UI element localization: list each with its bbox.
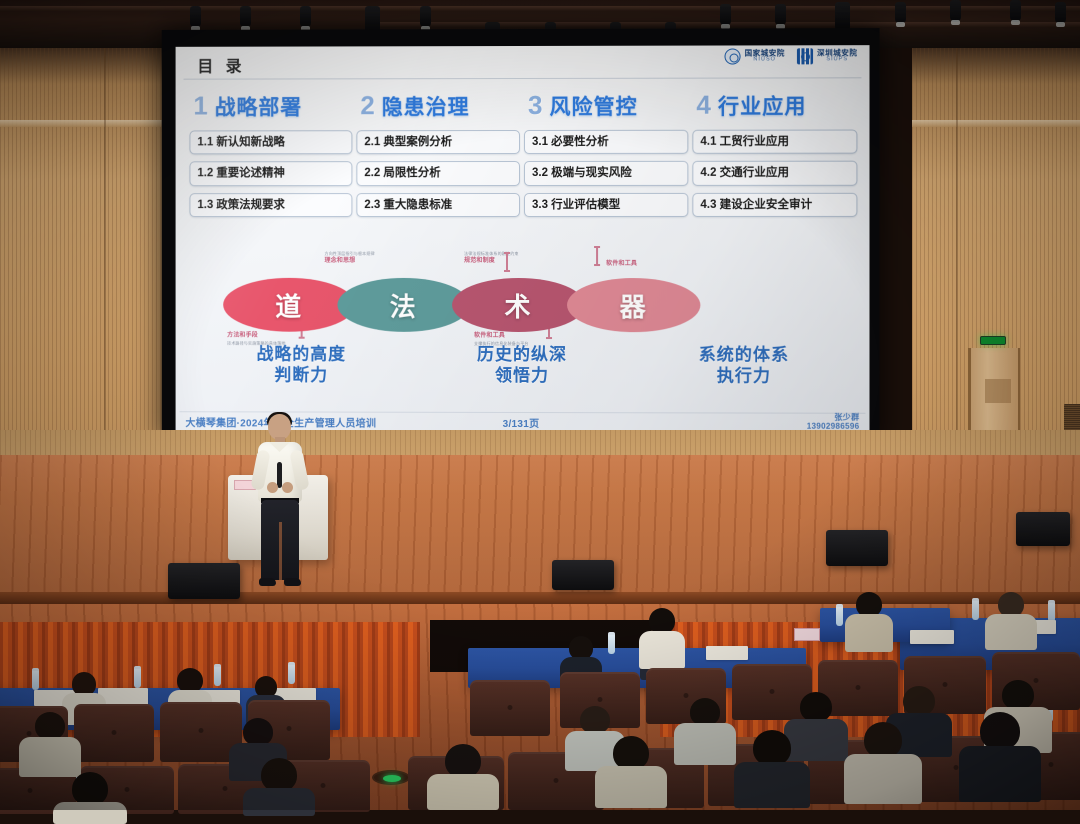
stage-edge xyxy=(0,592,1080,604)
audience-member xyxy=(428,744,498,808)
agenda-item[interactable]: 1.3 政策法规要求 xyxy=(189,193,352,217)
audience-member xyxy=(20,712,80,774)
column-title: 隐患治理 xyxy=(382,91,470,121)
logo-en-label: NIUSO xyxy=(745,57,785,63)
handout-paper xyxy=(706,646,748,660)
agenda-item[interactable]: 1.1 新认知新战略 xyxy=(189,130,352,154)
audience-member xyxy=(596,736,666,806)
column-number: 3 xyxy=(528,90,542,121)
caption-history: 历史的纵深 领悟力 xyxy=(411,344,632,387)
agenda-column-1: 1 战略部署 1.1 新认知新战略 1.2 重要论述精神 1.3 政策法规要求 xyxy=(189,90,352,217)
oval-annotation: 软件和工具 xyxy=(606,260,637,269)
slide-title: 目 录 xyxy=(197,53,245,77)
column-title: 行业应用 xyxy=(718,90,807,120)
name-card xyxy=(794,628,820,641)
agenda-item[interactable]: 2.1 典型案例分析 xyxy=(356,130,520,155)
water-bottle xyxy=(288,662,295,684)
circle-seal-icon xyxy=(725,48,741,64)
slide-page-indicator: 3/131页 xyxy=(503,415,540,430)
projection-screen[interactable]: 目 录 国家城安院 NIUSO 深圳城安院 SIUPS xyxy=(162,28,880,445)
water-bottle xyxy=(836,604,843,626)
audience-member xyxy=(640,608,684,666)
audience-member xyxy=(676,698,734,762)
stage-monitor-side-right xyxy=(1016,512,1070,546)
logo-siups: 深圳城安院 SIUPS xyxy=(797,48,857,64)
stage-floor xyxy=(0,455,1080,600)
footer-presenter-contact: 张少群 13902986596 xyxy=(807,412,860,431)
oval-dao: 道 xyxy=(223,278,355,332)
dao-fa-shu-qi-diagram: 道 法 术 器 xyxy=(223,278,700,332)
exit-sign-icon xyxy=(980,336,1006,345)
agenda-item[interactable]: 1.2 重要论述精神 xyxy=(189,162,352,186)
audience-member xyxy=(54,772,126,816)
stage-monitor-left xyxy=(168,563,240,599)
water-bottle xyxy=(608,632,615,654)
agenda-item[interactable]: 4.2 交通行业应用 xyxy=(692,161,857,186)
column-number: 1 xyxy=(193,91,207,122)
caption-system: 系统的体系 执行力 xyxy=(633,344,856,387)
audience-member xyxy=(244,758,314,812)
oval-annotation: 方向性顶层指引与根本规律 理念和思想 xyxy=(325,251,375,265)
oval-fa: 法 xyxy=(337,278,470,332)
agenda-item[interactable]: 3.3 行业评估模型 xyxy=(524,193,688,217)
agenda-item[interactable]: 4.3 建设企业安全审计 xyxy=(692,193,857,218)
logo-group: 国家城安院 NIUSO 深圳城安院 SIUPS xyxy=(725,48,858,64)
presenter-name: 张少群 xyxy=(807,412,860,421)
column-number: 4 xyxy=(696,90,711,121)
handout-paper xyxy=(910,630,954,644)
water-bottle xyxy=(134,666,141,688)
auditorium-scene: 目 录 国家城安院 NIUSO 深圳城安院 SIUPS xyxy=(0,0,1080,810)
caption-row: 战略的高度 判断力 历史的纵深 领悟力 系统的体系 执行力 xyxy=(191,344,855,388)
audience-member xyxy=(962,712,1038,800)
oval-qi: 器 xyxy=(567,278,700,332)
title-divider xyxy=(184,77,862,79)
agenda-item[interactable]: 3.1 必要性分析 xyxy=(524,130,688,155)
stage-monitor-right xyxy=(552,560,614,590)
presentation-slide: 目 录 国家城安院 NIUSO 深圳城安院 SIUPS xyxy=(176,45,870,433)
audience-member xyxy=(846,592,892,650)
caption-strategy: 战略的高度 判断力 xyxy=(191,344,411,387)
presenter-speaker xyxy=(252,414,308,590)
agenda-item[interactable]: 4.1 工贸行业应用 xyxy=(692,130,857,155)
agenda-column-2: 2 隐患治理 2.1 典型案例分析 2.2 局限性分析 2.3 重大隐患标准 xyxy=(356,90,520,217)
oval-annotation: 法律法规标准体系的刚性约束 规范和制度 xyxy=(464,251,519,265)
water-bottle xyxy=(1048,600,1055,622)
audience-member xyxy=(736,730,808,806)
water-bottle xyxy=(32,668,39,690)
microphone-icon xyxy=(277,462,282,488)
column-title: 风险管控 xyxy=(549,91,637,121)
agenda-column-3: 3 风险管控 3.1 必要性分析 3.2 极端与现实风险 3.3 行业评估模型 xyxy=(524,90,688,217)
audience-member xyxy=(986,592,1036,648)
audience-chair xyxy=(470,680,550,736)
aisle-floor-light xyxy=(372,770,410,785)
column-title: 战略部署 xyxy=(215,91,302,121)
stage-monitor-far-right xyxy=(826,530,888,566)
logo-niuso: 国家城安院 NIUSO xyxy=(725,48,785,64)
audience-chair xyxy=(74,704,154,762)
agenda-item[interactable]: 2.3 重大隐患标准 xyxy=(356,193,520,217)
oval-shu: 术 xyxy=(452,278,585,332)
agenda-item[interactable]: 3.2 极端与现实风险 xyxy=(524,161,688,186)
water-bottle xyxy=(972,598,979,620)
column-number: 2 xyxy=(360,90,374,121)
agenda-item[interactable]: 2.2 局限性分析 xyxy=(356,161,520,185)
water-bottle xyxy=(214,664,221,686)
audience-member xyxy=(846,722,920,802)
agenda-columns: 1 战略部署 1.1 新认知新战略 1.2 重要论述精神 1.3 政策法规要求 … xyxy=(189,89,857,217)
agenda-column-4: 4 行业应用 4.1 工贸行业应用 4.2 交通行业应用 4.3 建设企业安全审… xyxy=(692,89,857,217)
logo-en-label: SIUPS xyxy=(817,57,857,63)
grid-square-icon xyxy=(797,48,813,64)
